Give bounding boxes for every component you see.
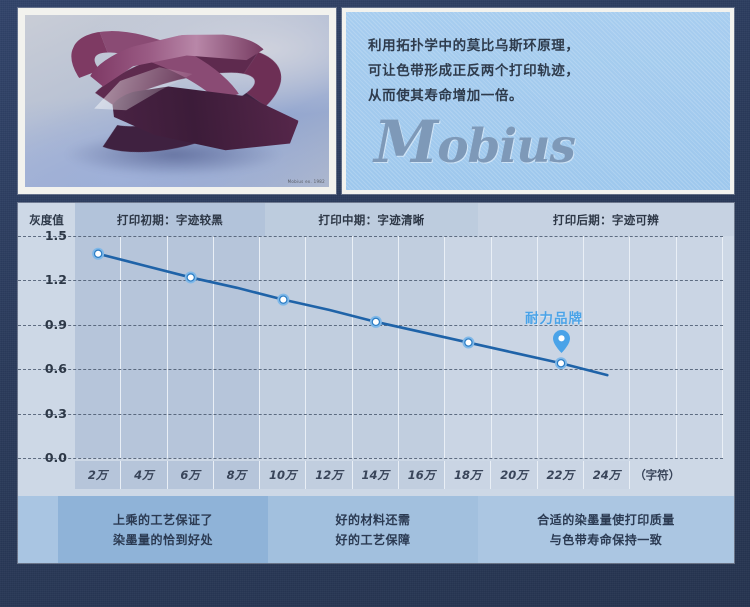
info-line-2: 可让色带形成正反两个打印轨迹， xyxy=(368,59,730,84)
note-quality-line2: 与色带寿命保持一致 xyxy=(550,530,663,550)
note-spacer xyxy=(18,496,58,563)
phase-header: 灰度值 打印初期：字迹较黑 打印中期：字迹清晰 打印后期：字迹可辨 xyxy=(18,203,734,236)
map-pin-icon xyxy=(553,330,570,353)
hero-row: Mobius ex. 1982 利用拓扑学中的莫比乌斯环原理， 可让色带形成正反… xyxy=(18,8,734,194)
data-point-10万[interactable] xyxy=(277,294,289,306)
mobius-strip-photo: Mobius ex. 1982 xyxy=(25,15,329,187)
note-material: 好的材料还需 好的工艺保障 xyxy=(268,496,478,563)
info-line-3: 从而使其寿命增加一倍。 xyxy=(368,84,730,109)
x-tick-4万: 4万 xyxy=(121,461,167,489)
mobius-logo-rest: obius xyxy=(437,119,575,174)
phase-label-late: 打印后期：字迹可辨 xyxy=(478,203,734,236)
data-point-2万[interactable] xyxy=(92,248,104,260)
x-tick-2万: 2万 xyxy=(75,461,121,489)
mobius-logo-cap: M xyxy=(374,108,437,176)
y-tick-0.6: 0.6 xyxy=(25,361,67,376)
annotation-label-brand: 耐力品牌 xyxy=(525,307,583,327)
note-material-line1: 好的材料还需 xyxy=(335,510,410,530)
x-tick-10万: 10万 xyxy=(260,461,306,489)
x-tick-14万: 14万 xyxy=(353,461,399,489)
y-tick-0.0: 0.0 xyxy=(25,450,67,465)
info-line-1: 利用拓扑学中的莫比乌斯环原理， xyxy=(368,34,730,59)
x-tick-16万: 16万 xyxy=(399,461,445,489)
x-tick-24万: 24万 xyxy=(584,461,630,489)
note-quality-line1: 合适的染墨量使打印质量 xyxy=(537,510,675,530)
note-craft-line1: 上乘的工艺保证了 xyxy=(113,510,213,530)
note-material-line2: 好的工艺保障 xyxy=(335,530,410,550)
data-point-18万[interactable] xyxy=(462,337,474,349)
mobius-logo: Mobius xyxy=(374,108,575,176)
x-tick-8万: 8万 xyxy=(214,461,260,489)
note-craft: 上乘的工艺保证了 染墨量的恰到好处 xyxy=(58,496,268,563)
x-axis: 2万4万6万8万10万12万14万16万18万20万22万24万（字符） xyxy=(75,461,723,489)
grayscale-chart-panel: 灰度值 打印初期：字迹较黑 打印中期：字迹清晰 打印后期：字迹可辨 1.51.2… xyxy=(18,203,734,563)
y-tick-1.2: 1.2 xyxy=(25,272,67,287)
mobius-photo-card: Mobius ex. 1982 xyxy=(18,8,336,194)
data-point-6万[interactable] xyxy=(185,271,197,283)
x-tick-20万: 20万 xyxy=(491,461,537,489)
phase-label-early: 打印初期：字迹较黑 xyxy=(75,203,265,236)
y-tick-0.9: 0.9 xyxy=(25,317,67,332)
grayscale-line-series xyxy=(75,236,723,458)
mobius-strip-illustration xyxy=(25,15,329,187)
x-tick-18万: 18万 xyxy=(445,461,491,489)
info-card-inner: 利用拓扑学中的莫比乌斯环原理， 可让色带形成正反两个打印轨迹， 从而使其寿命增加… xyxy=(346,12,730,190)
info-card: 利用拓扑学中的莫比乌斯环原理， 可让色带形成正反两个打印轨迹， 从而使其寿命增加… xyxy=(342,8,734,194)
note-quality: 合适的染墨量使打印质量 与色带寿命保持一致 xyxy=(478,496,734,563)
y-tick-0.3: 0.3 xyxy=(25,406,67,421)
note-craft-line2: 染墨量的恰到好处 xyxy=(113,530,213,550)
gridline-0.0 xyxy=(18,458,723,459)
y-tick-1.5: 1.5 xyxy=(25,228,67,243)
x-tick-12万: 12万 xyxy=(306,461,352,489)
data-point-14万[interactable] xyxy=(370,316,382,328)
phase-label-mid: 打印中期：字迹清晰 xyxy=(265,203,478,236)
x-tick-22万: 22万 xyxy=(538,461,584,489)
data-point-22万[interactable] xyxy=(555,357,567,369)
x-axis-unit-label: （字符） xyxy=(630,461,684,489)
notes-row: 上乘的工艺保证了 染墨量的恰到好处 好的材料还需 好的工艺保障 合适的染墨量使打… xyxy=(18,496,734,563)
photo-signature: Mobius ex. 1982 xyxy=(288,179,325,184)
x-tick-6万: 6万 xyxy=(168,461,214,489)
